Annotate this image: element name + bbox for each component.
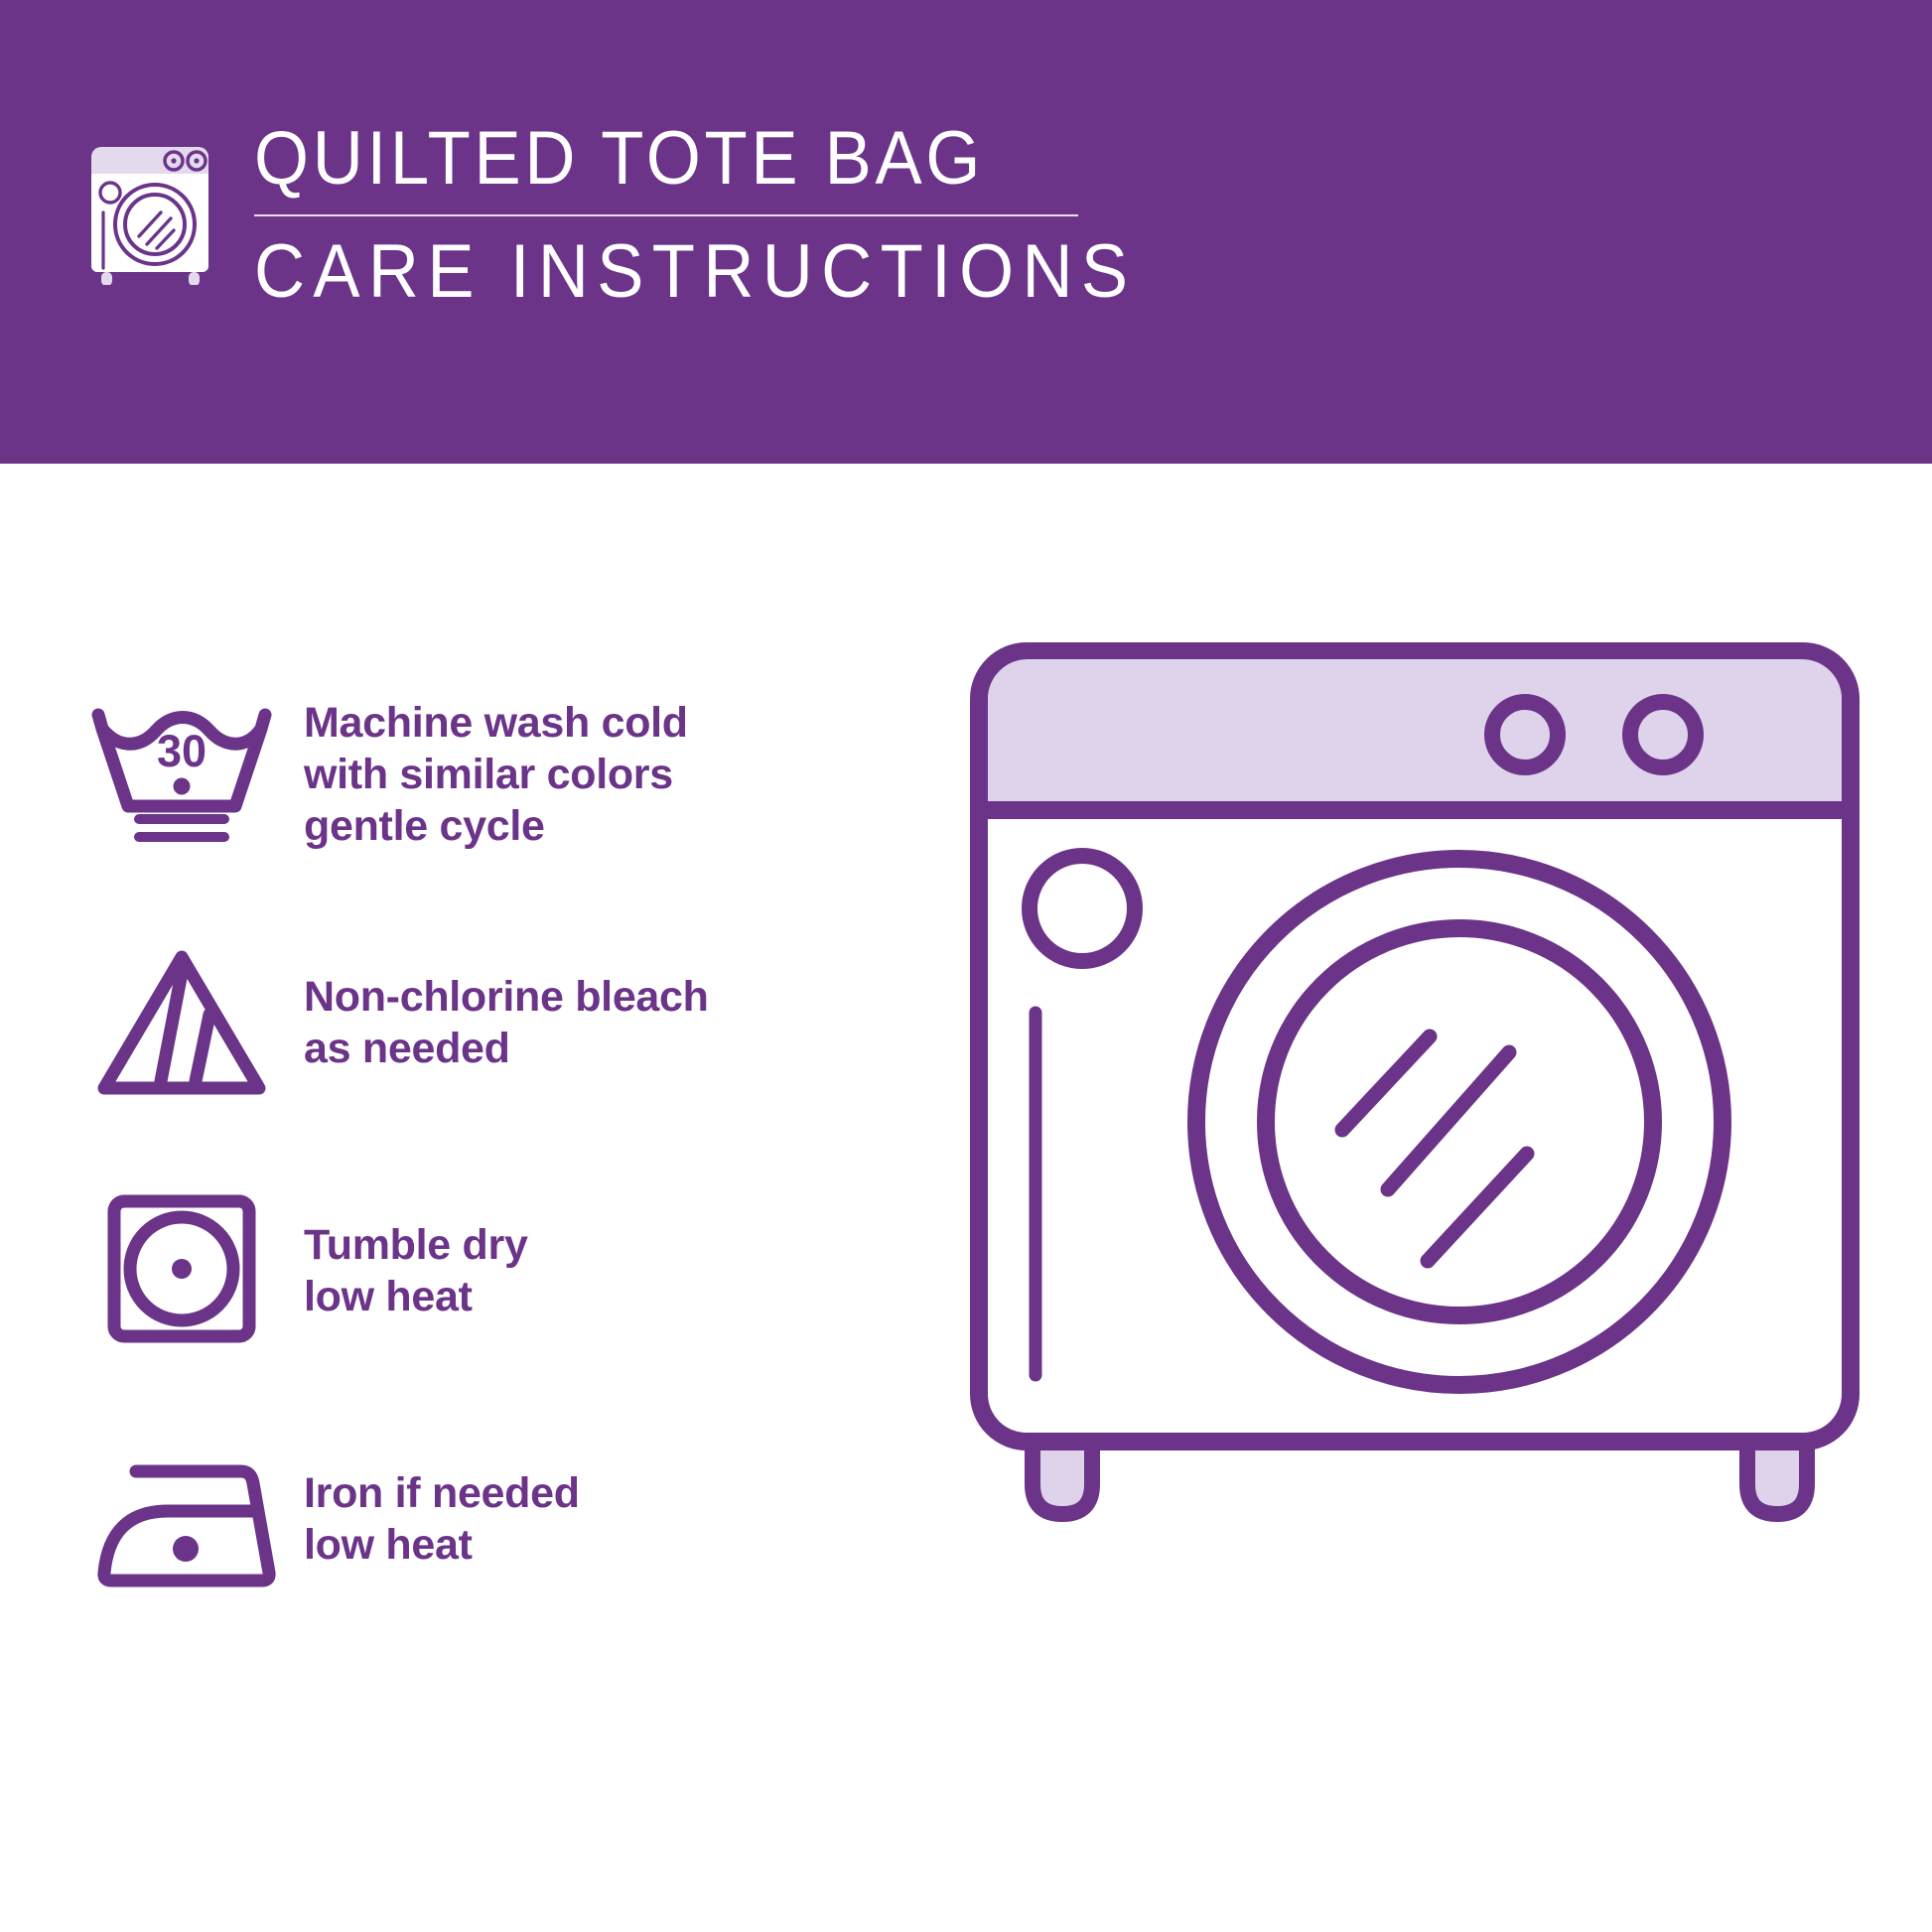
header-titles: QUILTED TOTE BAG CARE INSTRUCTIONS [254, 117, 1202, 314]
care-item-bleach: Non-chlorine bleach as needed [0, 898, 953, 1147]
care-item-iron-text: Iron if needed low heat [304, 1467, 580, 1571]
care-text-line: low heat [304, 1271, 528, 1322]
care-text-line: as needed [304, 1023, 709, 1074]
care-item-bleach-text: Non-chlorine bleach as needed [304, 971, 709, 1074]
washing-machine-illustration [963, 635, 1866, 1886]
care-item-tumble-dry: Tumble dry low heat [0, 1147, 953, 1395]
wash-tub-30-gentle-icon: 30 [77, 695, 286, 854]
care-item-tumble-dry-text: Tumble dry low heat [304, 1219, 528, 1322]
header-banner: QUILTED TOTE BAG CARE INSTRUCTIONS [0, 0, 1932, 464]
non-chlorine-bleach-triangle-icon [77, 943, 286, 1102]
knob-right [1630, 702, 1696, 767]
care-text-line: low heat [304, 1519, 580, 1571]
page-title: QUILTED TOTE BAG [254, 117, 1136, 201]
care-text-line: Machine wash cold [304, 697, 688, 749]
care-text-line: Iron if needed [304, 1467, 580, 1519]
care-item-wash-text: Machine wash cold with similar colors ge… [304, 697, 688, 852]
care-text-line: gentle cycle [304, 800, 688, 852]
header-divider [254, 214, 1078, 216]
washing-machine-icon [77, 121, 224, 285]
tumble-dry-low-icon [77, 1191, 286, 1350]
iron-low-heat-icon [77, 1440, 286, 1598]
care-instruction-list: 30 Machine wash cold with similar colors… [0, 650, 953, 1643]
care-item-wash: 30 Machine wash cold with similar colors… [0, 650, 953, 898]
control-panel [988, 659, 1842, 810]
care-text-line: with similar colors [304, 749, 688, 800]
wash-temp-label: 30 [157, 726, 207, 776]
knob-left [1492, 702, 1558, 767]
care-text-line: Non-chlorine bleach [304, 971, 709, 1023]
care-text-line: Tumble dry [304, 1219, 528, 1271]
page-subtitle: CARE INSTRUCTIONS [254, 230, 1136, 314]
header-content: QUILTED TOTE BAG CARE INSTRUCTIONS [77, 117, 1202, 314]
care-item-iron: Iron if needed low heat [0, 1395, 953, 1643]
